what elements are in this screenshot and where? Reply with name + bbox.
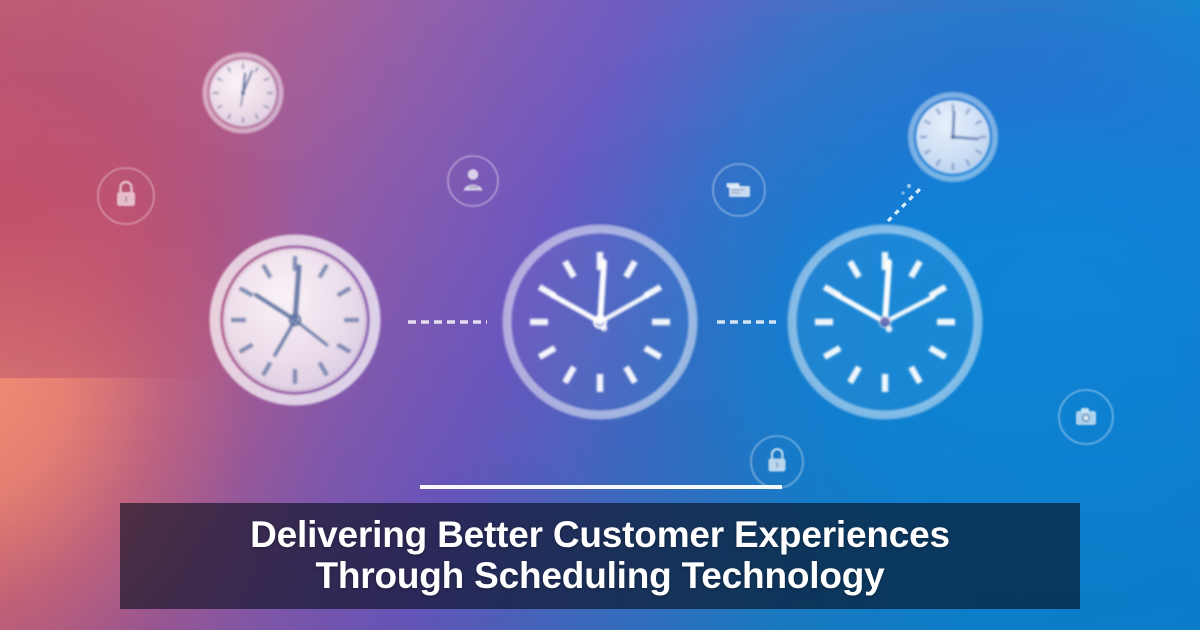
calendar-icon xyxy=(713,164,765,216)
title-divider xyxy=(420,485,782,489)
clock-small-top-right xyxy=(911,95,995,179)
user-icon xyxy=(448,156,498,206)
clock-large-center xyxy=(507,229,693,415)
clock-large-right xyxy=(792,229,978,415)
hero-banner: Delivering Better Customer Experiences T… xyxy=(0,0,1200,630)
page-title-line-1: Delivering Better Customer Experiences xyxy=(250,515,950,556)
camera-icon xyxy=(1059,390,1113,444)
page-title-line-2: Through Scheduling Technology xyxy=(315,556,884,597)
lock-icon xyxy=(98,168,154,224)
clock-large-left xyxy=(215,240,375,400)
title-band: Delivering Better Customer Experiences T… xyxy=(120,503,1080,609)
lock-icon-bottom xyxy=(751,436,803,488)
clock-small-top-left xyxy=(205,55,281,131)
sparkle-dots xyxy=(901,184,911,195)
